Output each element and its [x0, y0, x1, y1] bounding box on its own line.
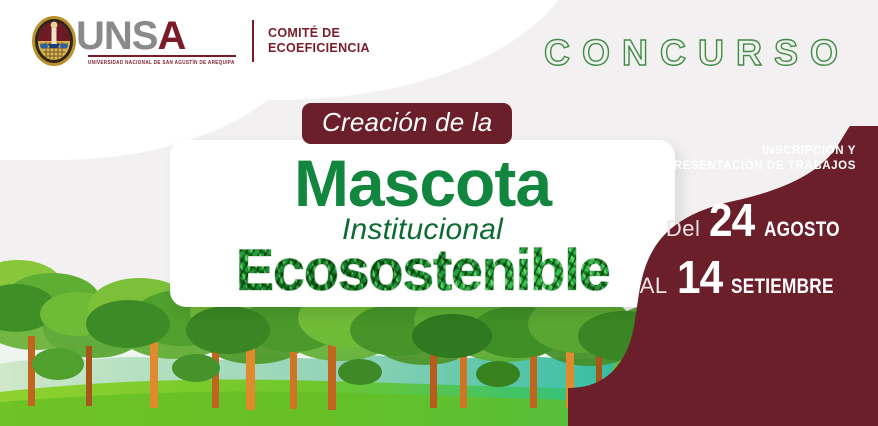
committee-line-2: ECOEFICIENCIA	[268, 41, 370, 56]
end-date-month: SETIEMBRE	[731, 275, 834, 299]
registration-heading-line-2: PRESENTACIÓN DE TRABAJOS	[588, 159, 856, 174]
start-date-line: Del 24 AGOSTO	[588, 199, 856, 242]
start-date-prefix: Del	[666, 216, 701, 242]
committee-line-1: COMITÉ DE	[268, 26, 370, 41]
title-ribbon: Creación de la	[302, 103, 512, 144]
start-date-month: AGOSTO	[764, 218, 840, 242]
dates-content: INSCRIPCIÓN Y PRESENTACIÓN DE TRABAJOS D…	[588, 144, 856, 313]
brand-header: UNSA UNIVERSIDAD NACIONAL DE SAN AGUSTÍN…	[30, 14, 370, 68]
contest-label: CONCURSO	[544, 32, 850, 74]
unsa-tagline: UNIVERSIDAD NACIONAL DE SAN AGUSTÍN DE A…	[88, 59, 235, 65]
ribbon-text: Creación de la	[322, 107, 492, 137]
unsa-wordmark-text: UNSA	[76, 18, 185, 54]
wordmark-rule	[88, 55, 236, 57]
start-date-day: 24	[709, 199, 754, 241]
unsa-wordmark: UNSA UNIVERSIDAD NACIONAL DE SAN AGUSTÍN…	[82, 18, 236, 64]
header-divider	[252, 20, 254, 62]
end-date-line: AL 14 SETIEMBRE	[588, 256, 856, 299]
poster-canvas: UNSA UNIVERSIDAD NACIONAL DE SAN AGUSTÍN…	[0, 0, 878, 426]
dates-panel: INSCRIPCIÓN Y PRESENTACIÓN DE TRABAJOS D…	[568, 126, 878, 426]
registration-heading: INSCRIPCIÓN Y PRESENTACIÓN DE TRABAJOS	[588, 144, 856, 173]
unsa-crest-icon	[30, 14, 78, 68]
end-date-day: 14	[677, 256, 722, 298]
end-date-prefix: AL	[640, 273, 668, 299]
committee-label: COMITÉ DE ECOEFICIENCIA	[268, 26, 370, 56]
registration-heading-line-1: INSCRIPCIÓN Y	[588, 144, 856, 159]
